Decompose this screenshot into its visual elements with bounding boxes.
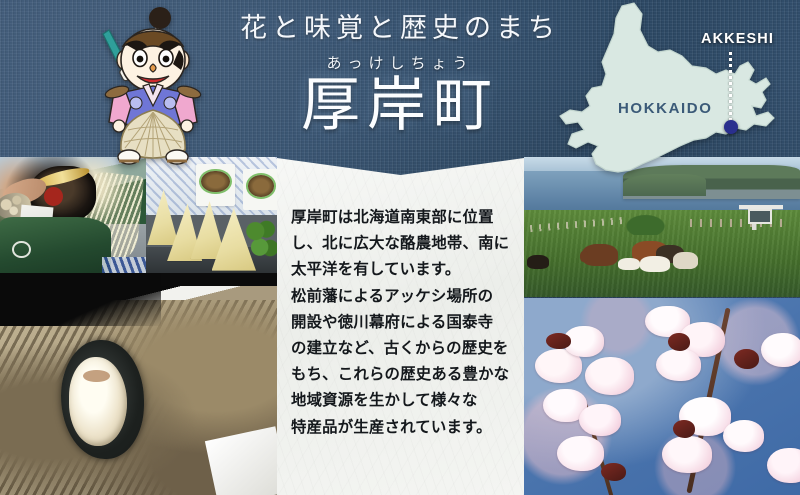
- mascot-character: [95, 2, 213, 170]
- description-line: 地域資源を生かして様々な: [291, 387, 514, 413]
- header-text-block: 花と味覚と歴史のまち あっけしちょう 厚岸町: [205, 6, 595, 136]
- description-panel: 厚岸町は北海道南東部に位置 し、北に広大な酪農地帯、南に 太平洋を有しています。…: [277, 158, 524, 495]
- photo-cow-animal: [582, 244, 618, 266]
- photo-cow-bush: [623, 213, 667, 235]
- photo-cow-animal: [618, 258, 640, 271]
- photo-sakura-flower: [656, 349, 700, 381]
- photo-oyster-meat: [69, 357, 127, 446]
- photo-lion-pavement: [102, 257, 146, 273]
- photo-cheese: [146, 157, 277, 273]
- akkeshi-pointer-line: [729, 52, 732, 124]
- photo-cow-signboard: [748, 209, 773, 224]
- photo-lion-crest: [12, 241, 31, 258]
- photo-lion-dance: [0, 157, 146, 273]
- photo-cow-animal: [640, 256, 670, 271]
- photo-oyster-shadow: [0, 273, 161, 326]
- tagline: 花と味覚と歴史のまち: [205, 6, 595, 45]
- photo-cheese-label-2: [243, 169, 277, 211]
- description-line: 太平洋を有しています。: [291, 256, 514, 282]
- akkeshi-marker-dot: [724, 120, 738, 134]
- photo-oyster: [0, 273, 277, 495]
- photo-sakura-bud: [668, 333, 690, 351]
- description-line: の建立など、古くからの歴史を: [291, 335, 514, 361]
- photo-sakura-bud: [673, 420, 695, 438]
- akkeshi-town-banner: HOKKAIDO AKKESHI 花と味覚と歴史のまち あっけしちょう 厚岸町: [0, 0, 800, 495]
- photo-sakura-bud: [734, 349, 759, 369]
- photo-sakura-flower: [557, 436, 604, 471]
- photo-sakura-flower: [579, 404, 620, 436]
- description-line: 開設や徳川幕府による国泰寺: [291, 309, 514, 335]
- photo-sakura-flower: [761, 333, 800, 366]
- map-region-label: HOKKAIDO: [618, 100, 712, 117]
- photo-cheese-parsley: [246, 217, 277, 263]
- description-line: し、北に広大な酪農地帯、南に: [291, 230, 514, 256]
- photo-sakura-bud: [546, 333, 571, 349]
- photo-cherry-blossom: [524, 298, 800, 495]
- photo-sakura-flower: [662, 436, 712, 473]
- description-line: 松前藩によるアッケシ場所の: [291, 283, 514, 309]
- description-text: 厚岸町は北海道南東部に位置 し、北に広大な酪農地帯、南に 太平洋を有しています。…: [291, 204, 514, 440]
- description-line: 特産品が生産されています。: [291, 414, 514, 440]
- photo-cow-animal: [527, 255, 549, 269]
- town-name: 厚岸町: [205, 74, 595, 136]
- photo-lion-mouth: [44, 187, 63, 206]
- photo-cow-animal: [673, 252, 698, 269]
- description-line: 厚岸町は北海道南東部に位置: [291, 204, 514, 230]
- photo-sakura-flower: [723, 420, 764, 452]
- description-line: もち、これらの歴史ある豊かな: [291, 361, 514, 387]
- map-city-label: AKKESHI: [701, 31, 774, 47]
- photo-sakura-flower: [585, 357, 635, 394]
- photo-cheese-label-1: [196, 164, 235, 206]
- photo-sakura-bud: [601, 463, 626, 481]
